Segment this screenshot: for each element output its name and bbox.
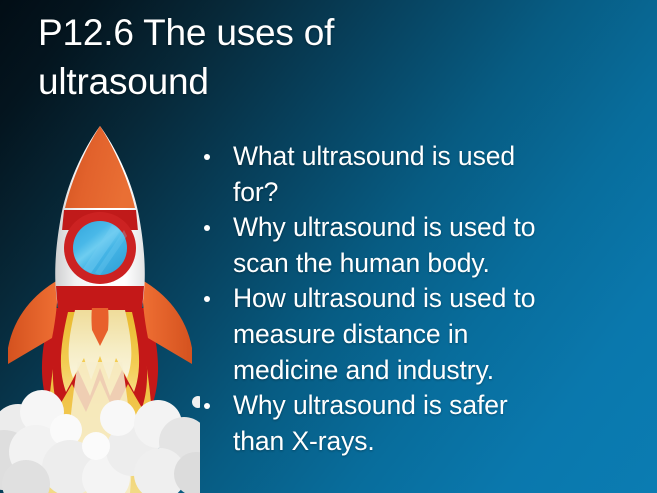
list-item-text: What ultrasound is used for? bbox=[233, 141, 515, 207]
list-item-text: Why ultrasound is safer than X-rays. bbox=[233, 390, 508, 456]
list-item-text: Why ultrasound is used to scan the human… bbox=[233, 212, 535, 278]
bullet-dot-icon bbox=[204, 296, 210, 302]
rocket-nose-cone bbox=[65, 126, 135, 208]
list-item-text: How ultrasound is used to measure distan… bbox=[233, 283, 535, 384]
list-item: What ultrasound is used for? bbox=[198, 139, 558, 210]
bullet-dot-icon bbox=[204, 403, 210, 409]
list-item: Why ultrasound is safer than X-rays. bbox=[198, 388, 558, 459]
slide-title: P12.6 The uses of ultrasound bbox=[38, 8, 508, 106]
rocket-engine-band bbox=[56, 286, 144, 308]
bullet-list: What ultrasound is used for? Why ultraso… bbox=[198, 139, 558, 459]
slide-canvas: P12.6 The uses of ultrasound What ultras… bbox=[0, 0, 657, 493]
bullet-dot-icon bbox=[204, 225, 210, 231]
rocket-porthole bbox=[64, 212, 136, 284]
rocket-illustration bbox=[0, 112, 200, 493]
list-item: How ultrasound is used to measure distan… bbox=[198, 281, 558, 388]
bullet-dot-icon bbox=[204, 154, 210, 160]
list-item: Why ultrasound is used to scan the human… bbox=[198, 210, 558, 281]
